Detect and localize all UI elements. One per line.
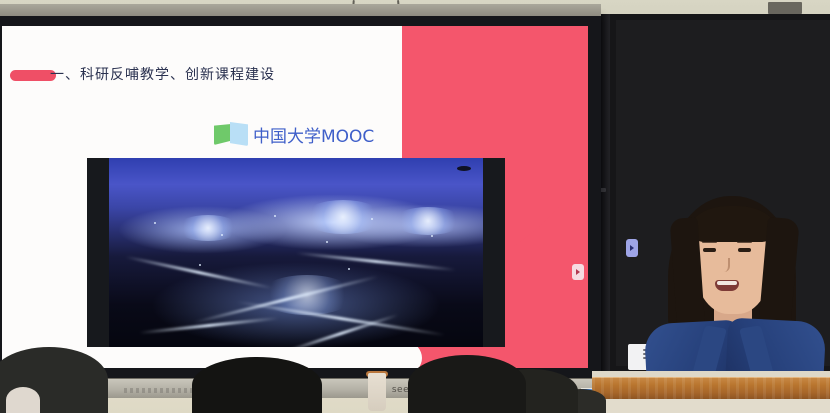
book-icon — [214, 121, 248, 147]
highway-light-trail — [296, 252, 455, 272]
video-pillarbox-left — [87, 158, 109, 347]
paper-cup — [368, 373, 386, 411]
city-glow — [176, 215, 240, 241]
speaker-hair-fringe — [690, 206, 776, 242]
audience-hand — [6, 387, 40, 413]
speaker-eye — [738, 248, 751, 252]
speaker-eyebrow — [702, 241, 717, 243]
page-title: 一、科研反哺教学、创新课程建设 — [50, 64, 275, 84]
play-triangle-icon[interactable] — [572, 264, 584, 280]
speaker-teeth — [717, 281, 737, 285]
embedded-video[interactable] — [87, 158, 505, 347]
interactive-flat-panel[interactable]: 一、科研反哺教学、创新课程建设 中国大学MOOC — [0, 14, 601, 382]
podium-wood-panel — [592, 377, 830, 399]
play-triangle-icon[interactable] — [626, 239, 638, 257]
panel-top-rail — [0, 4, 601, 16]
podium — [592, 371, 830, 413]
speaker-eye — [703, 248, 716, 252]
wall-mounted-box — [768, 2, 802, 14]
speaker-eyebrow — [737, 241, 752, 243]
lecture-hall-scene: ≡ 一、科研反哺教学、创新课程建设 中国大学MOOC — [0, 0, 830, 413]
slide-white-field — [2, 26, 402, 176]
audience-head — [408, 355, 526, 413]
podium-front-panel — [592, 399, 830, 413]
city-glow — [393, 207, 463, 235]
book-icon-leaf — [214, 124, 231, 145]
video-pillarbox-right — [483, 158, 505, 347]
audience-head — [192, 357, 322, 413]
video-artifact — [457, 166, 471, 171]
board-edge-rail — [600, 14, 610, 384]
mooc-logo: 中国大学MOOC — [214, 121, 374, 147]
highway-light-trail — [125, 256, 272, 290]
city-glow — [303, 200, 383, 234]
presentation-slide: 一、科研反哺教学、创新课程建设 中国大学MOOC — [2, 26, 588, 368]
book-icon-page — [230, 122, 248, 146]
mooc-logo-label: 中国大学MOOC — [253, 122, 374, 147]
video-frame-image — [109, 158, 483, 347]
